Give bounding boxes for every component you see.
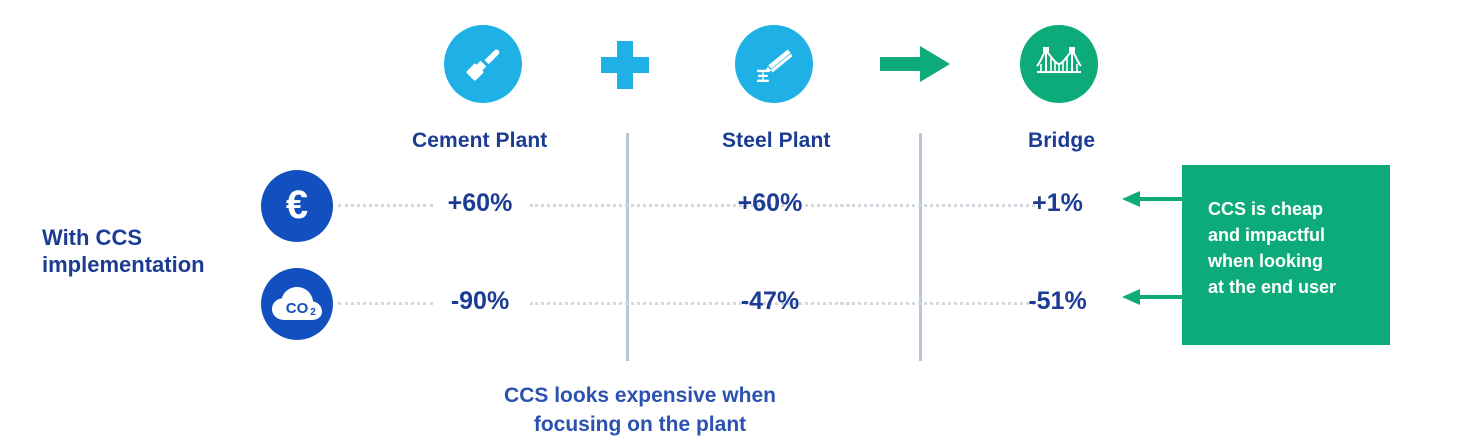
metric-emissions-bridge: -51% [1000,287,1115,316]
arrow-right-icon [880,46,950,82]
column-header-cement-plant: Cement Plant [412,129,547,153]
column-divider-cement-steel [626,133,629,361]
section-label-line-2: implementation [42,251,257,278]
metric-cost-bridge: +1% [1000,189,1115,218]
column-divider-steel-bridge [919,133,922,361]
callout-text-line-3: when looking [1208,248,1383,274]
column-header-steel-plant: Steel Plant [722,129,830,153]
section-label-line-1: With CCS [42,224,257,251]
bridge-icon-badge [1020,25,1098,103]
euro-icon-glyph: € [286,185,308,225]
steel-plant-icon-badge [735,25,813,103]
plus-icon [601,41,649,89]
svg-text:2: 2 [310,307,316,318]
cement-plant-icon-badge [444,25,522,103]
callout-text-line-4: at the end user [1208,274,1383,300]
metric-emissions-steel: -47% [700,287,840,316]
callout-text-line-2: and impactful [1208,222,1383,248]
bridge-icon [1035,44,1083,84]
trowel-icon [461,42,505,86]
callout-text: CCS is cheap and impactful when looking … [1208,196,1383,300]
bottom-caption-line-1: CCS looks expensive when [430,381,850,410]
metric-cost-cement: +60% [410,189,550,218]
bottom-caption: CCS looks expensive when focusing on the… [430,381,850,439]
co2-cloud-icon: CO 2 [261,268,333,340]
euro-icon: € [261,170,333,242]
column-header-bridge: Bridge [1028,129,1095,153]
bottom-caption-line-2: focusing on the plant [430,410,850,439]
metric-emissions-cement: -90% [410,287,550,316]
svg-text:CO: CO [286,300,309,317]
callout-arrow-left-emissions [1118,288,1186,310]
callout-arrow-left-cost [1118,190,1186,212]
steel-beam-icon [752,42,796,86]
metric-cost-steel: +60% [700,189,840,218]
ccs-infographic: Cement Plant Steel Plant Bridge With CCS… [0,0,1482,448]
section-label: With CCS implementation [42,224,257,278]
callout-text-line-1: CCS is cheap [1208,196,1383,222]
plus-icon-vertical-bar [617,41,633,89]
